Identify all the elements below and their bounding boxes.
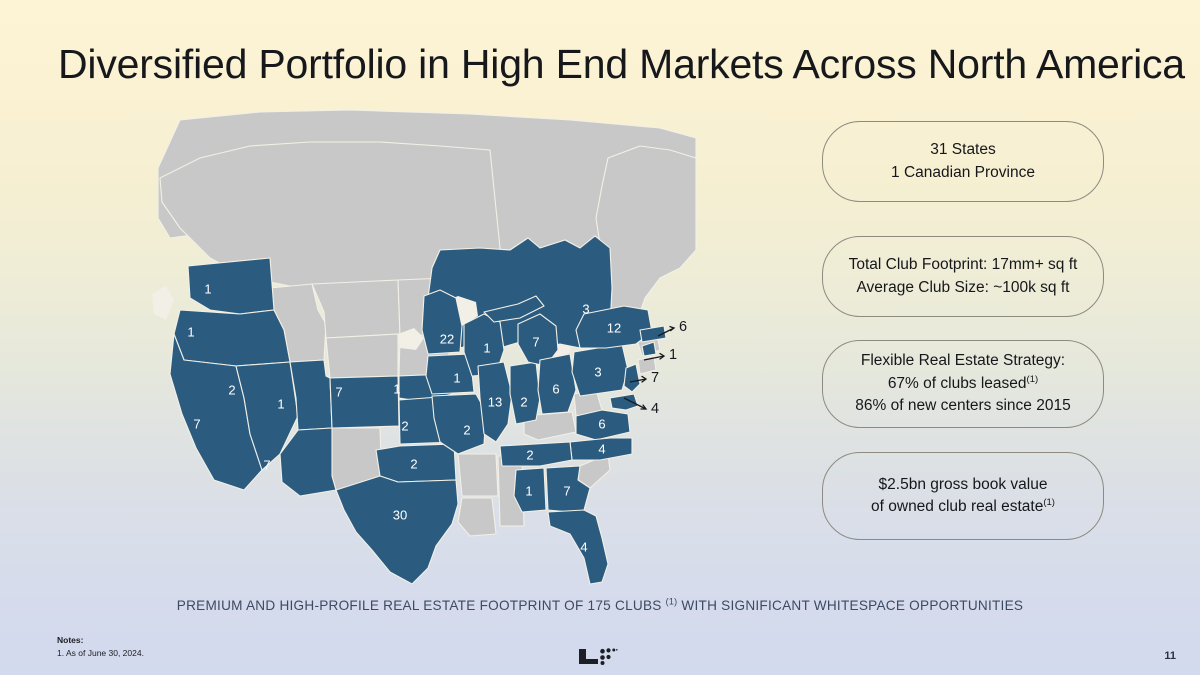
map-label-AL: 1 bbox=[525, 483, 532, 498]
footnote-marker: (1) bbox=[1027, 374, 1039, 385]
slide-canvas: Diversified Portfolio in High End Market… bbox=[0, 0, 1200, 675]
callout-line: 67% of clubs leased(1) bbox=[855, 373, 1070, 395]
callout-line: 1 Canadian Province bbox=[891, 162, 1035, 184]
map-label-NC: 4 bbox=[598, 441, 605, 456]
banner-text-before: PREMIUM AND HIGH-PROFILE REAL ESTATE FOO… bbox=[177, 598, 662, 613]
map-label-KS: 2 bbox=[401, 418, 408, 433]
notes-block: Notes: 1. As of June 30, 2024. bbox=[57, 634, 144, 660]
callout-text: Flexible Real Estate Strategy: bbox=[861, 352, 1065, 369]
north-america-club-map: .st{stroke:#f2f0e6;stroke-width:1.1;stro… bbox=[140, 98, 700, 598]
callout-line: 86% of new centers since 2015 bbox=[855, 395, 1070, 417]
map-label-AZ: 7 bbox=[263, 457, 270, 472]
page-title: Diversified Portfolio in High End Market… bbox=[58, 42, 1185, 88]
map-label-MN: 22 bbox=[440, 331, 454, 346]
map-label-TN: 2 bbox=[526, 447, 533, 462]
callout-line: $2.5bn gross book value bbox=[871, 474, 1055, 496]
map-label-NV: 2 bbox=[228, 382, 235, 397]
map-label-GA: 7 bbox=[563, 483, 570, 498]
map-label-OH: 6 bbox=[552, 381, 559, 396]
map-label-MO: 2 bbox=[463, 422, 470, 437]
callout-states-count: 31 States 1 Canadian Province bbox=[822, 121, 1104, 202]
map-label-CO: 7 bbox=[335, 384, 342, 399]
banner-footnote-marker: (1) bbox=[666, 596, 678, 606]
notes-item: 1. As of June 30, 2024. bbox=[57, 647, 144, 661]
callout-club-footprint: Total Club Footprint: 17mm+ sq ft Averag… bbox=[822, 236, 1104, 317]
map-label-OK: 2 bbox=[410, 456, 417, 471]
map-leader-label-MD: 4 bbox=[651, 401, 659, 417]
callout-line: 31 States bbox=[891, 139, 1035, 161]
map-leader-label-MA: 6 bbox=[679, 319, 687, 335]
logo-svg bbox=[577, 647, 619, 665]
footnote-marker: (1) bbox=[1043, 497, 1055, 508]
map-label-IN: 2 bbox=[520, 394, 527, 409]
map-label-FL: 4 bbox=[580, 539, 587, 554]
callout-line: Total Club Footprint: 17mm+ sq ft bbox=[849, 254, 1078, 276]
map-label-NY: 12 bbox=[607, 320, 621, 335]
callout-gross-book-value: $2.5bn gross book value of owned club re… bbox=[822, 452, 1104, 540]
footer-banner: PREMIUM AND HIGH-PROFILE REAL ESTATE FOO… bbox=[0, 598, 1200, 613]
map-label-WA: 1 bbox=[204, 281, 211, 296]
map-label-CA: 7 bbox=[193, 416, 200, 431]
callout-real-estate-strategy: Flexible Real Estate Strategy: 67% of cl… bbox=[822, 340, 1104, 428]
life-time-logo bbox=[577, 647, 619, 665]
map-label-OR: 1 bbox=[187, 324, 194, 339]
map-label-WI: 1 bbox=[483, 340, 490, 355]
callout-line: of owned club real estate(1) bbox=[871, 496, 1055, 518]
map-label-IL: 13 bbox=[488, 394, 502, 409]
map-label-IA: 1 bbox=[453, 370, 460, 385]
map-svg: .st{stroke:#f2f0e6;stroke-width:1.1;stro… bbox=[140, 98, 700, 598]
map-label-ON: 3 bbox=[582, 301, 589, 316]
page-number: 11 bbox=[1164, 650, 1176, 662]
map-label-PA: 3 bbox=[594, 364, 601, 379]
map-leader-label-CT: 1 bbox=[669, 347, 677, 363]
map-label-VA: 6 bbox=[598, 416, 605, 431]
callout-line: Flexible Real Estate Strategy: bbox=[855, 350, 1070, 372]
callout-line: Average Club Size: ~100k sq ft bbox=[849, 277, 1078, 299]
map-label-TX: 30 bbox=[393, 507, 407, 522]
map-label-UT: 1 bbox=[277, 396, 284, 411]
map-label-NE: 1 bbox=[393, 381, 400, 396]
banner-text-after: WITH SIGNIFICANT WHITESPACE OPPORTUNITIE… bbox=[681, 598, 1023, 613]
notes-heading: Notes: bbox=[57, 634, 144, 647]
map-label-MI: 7 bbox=[532, 334, 539, 349]
map-leader-label-NJ: 7 bbox=[651, 370, 659, 386]
